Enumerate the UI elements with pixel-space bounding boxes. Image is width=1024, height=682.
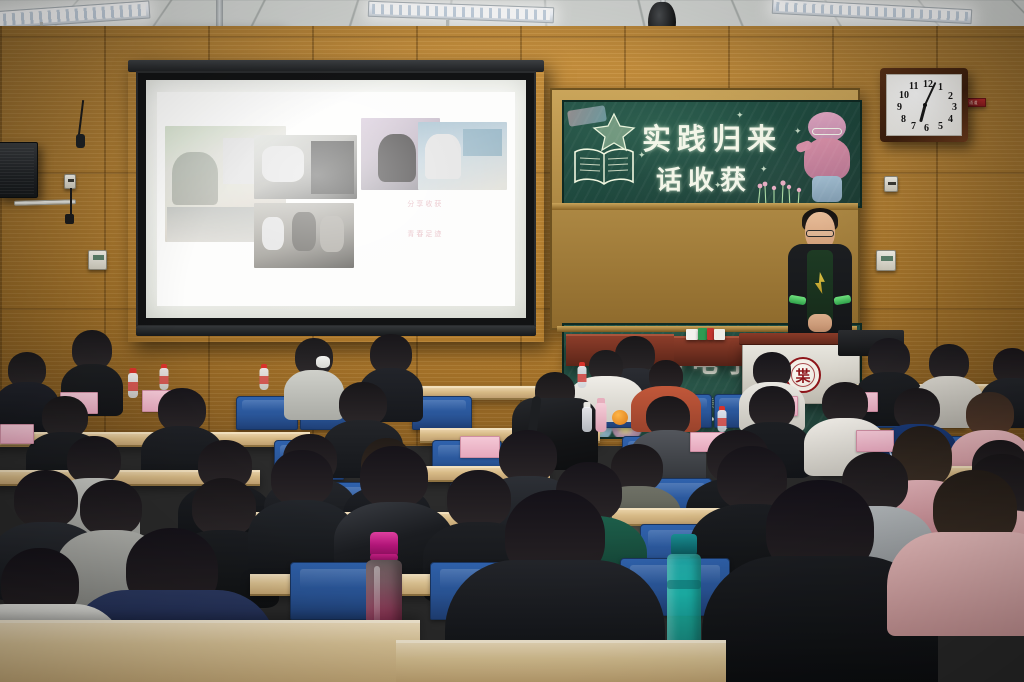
outlet-slot [68, 179, 74, 182]
head [271, 450, 333, 506]
bottle-label [128, 382, 138, 391]
clock-numeral-10: 10 [899, 91, 909, 101]
foreground-desk-edge-right [396, 640, 726, 682]
bottle-label [718, 418, 727, 426]
pink-bottle-r2[interactable] [594, 398, 608, 432]
wall-outlet-right[interactable] [884, 176, 898, 192]
screen-bottom-bar [136, 326, 536, 336]
wall-plug-left [65, 214, 74, 224]
outlet-wire-left [70, 188, 72, 216]
clock-hour-hand [919, 105, 926, 122]
blackboard-headline-line2: 话收获 [656, 160, 752, 197]
wall-outlet-left[interactable] [64, 174, 76, 189]
teal-water-bottle[interactable] [664, 534, 704, 654]
sparkle-1: ✦ [638, 150, 646, 161]
marker-box-red[interactable] [707, 328, 714, 340]
open-book-chalk-drawing [572, 146, 636, 188]
bottle-body [596, 403, 607, 432]
projection-screen[interactable]: 分享收获 青春足迹 [136, 71, 536, 327]
water-bottle-r2-b[interactable] [580, 402, 593, 432]
hanging-hook [76, 134, 85, 148]
bottle-label [160, 376, 169, 384]
clock-numeral-2: 2 [948, 92, 953, 102]
projection-screen-assembly: 分享收获 青春足迹 [128, 60, 544, 342]
clock-numeral-7: 7 [911, 122, 916, 132]
bottle-cap [370, 532, 398, 556]
clock-numeral-8: 8 [901, 115, 906, 125]
face-mask [316, 356, 330, 368]
sparkle-4: ✦ [760, 164, 768, 175]
bottle-label [260, 376, 269, 384]
clock-face: 12 1 2 3 4 5 6 7 8 9 10 11 [886, 74, 962, 136]
blackboard-upper-panel: 实践归来 话收获 ✦ ✦ ✦ ✦ ✦ ✦ [562, 100, 862, 208]
sparkle-6: ✦ [714, 180, 722, 191]
clock-numeral-5: 5 [938, 122, 943, 132]
clock-numeral-4: 4 [948, 115, 953, 125]
slide-caption-bottom: 青春足迹 [407, 229, 443, 239]
wall-clock: 12 1 2 3 4 5 6 7 8 9 10 11 [880, 68, 968, 142]
water-bottle-r1-d[interactable] [716, 406, 728, 432]
photo-group-seated [254, 203, 354, 267]
clock-numeral-1: 1 [938, 83, 943, 93]
bottle-cap [671, 534, 697, 556]
presenter-hands [808, 314, 831, 332]
mascot-glasses [812, 128, 842, 135]
photo-team-discussion [418, 122, 507, 191]
foreground-desk-edge [0, 620, 420, 682]
desk-placard-8 [0, 424, 34, 444]
marker-box-green[interactable] [698, 328, 707, 340]
bottle-grip-band [667, 580, 701, 589]
body [887, 532, 1024, 636]
speaker-grill [0, 146, 34, 194]
clock-numeral-6: 6 [924, 124, 929, 134]
screen-surface: 分享收获 青春足迹 [146, 80, 526, 318]
student-right-edge-pink [900, 470, 1024, 620]
outlet-slot-right-lower [881, 256, 893, 261]
blackboard-headline-line1: 实践归来 [642, 116, 782, 158]
wall-outlet-left-lower[interactable] [88, 250, 107, 270]
wall-speaker-left [0, 142, 38, 198]
bottle-body [667, 554, 701, 654]
sparkle-2: ✦ [736, 110, 744, 121]
outlet-slot-lower [93, 255, 104, 260]
wall-outlet-right-lower[interactable] [876, 250, 896, 271]
slide-caption-top: 分享收获 [407, 199, 443, 209]
bottle-body [582, 407, 592, 432]
lecture-hall-photo: 消防通道 12 1 2 3 4 5 6 7 8 9 10 11 [0, 0, 1024, 682]
orange-fruit [612, 410, 628, 425]
presentation-slide: 分享收获 青春足迹 [157, 92, 514, 306]
photo-workshop-hands [254, 135, 358, 199]
water-bottle-r1-b[interactable] [258, 364, 270, 390]
marker-box-white-2[interactable] [714, 329, 725, 340]
marker-box-white[interactable] [686, 329, 698, 340]
head [360, 446, 428, 508]
clock-center-pin [923, 103, 927, 107]
water-bottle-r2-a[interactable] [126, 368, 139, 398]
mascot-legs [812, 176, 842, 202]
outlet-slot-right [888, 182, 896, 185]
presenter-student [788, 210, 852, 340]
clock-numeral-9: 9 [897, 103, 902, 113]
clock-numeral-11: 11 [909, 82, 918, 92]
water-bottle-r1-a[interactable] [158, 364, 170, 390]
clock-numeral-3: 3 [952, 103, 957, 113]
presenter-glasses [806, 230, 834, 237]
